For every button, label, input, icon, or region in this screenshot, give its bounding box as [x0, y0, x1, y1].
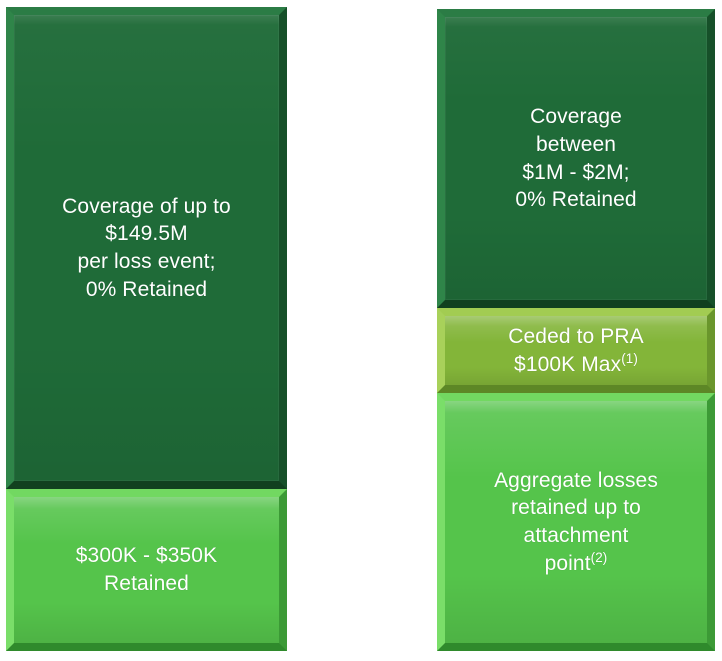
- right-ceded-footnote-marker: (1): [621, 351, 638, 366]
- right-aggregate-label: Aggregate losses retained up to attachme…: [488, 467, 664, 578]
- right-ceded-block[interactable]: Ceded to PRA $100K Max(1): [437, 308, 715, 393]
- left-coverage-line-4: 0% Retained: [86, 278, 207, 301]
- left-coverage-block[interactable]: Coverage of up to $149.5M per loss event…: [6, 7, 287, 489]
- left-coverage-line-1: Coverage of up to: [62, 195, 231, 218]
- right-coverage-block[interactable]: Coverage between $1M - $2M; 0% Retained: [437, 9, 715, 308]
- right-ceded-label: Ceded to PRA $100K Max(1): [502, 323, 649, 378]
- left-coverage-label: Coverage of up to $149.5M per loss event…: [56, 193, 237, 304]
- right-aggregate-block[interactable]: Aggregate losses retained up to attachme…: [437, 393, 715, 651]
- left-retained-label: $300K - $350K Retained: [70, 542, 223, 597]
- right-aggregate-line-3: attachment: [524, 524, 629, 547]
- right-ceded-line-2: $100K Max: [514, 353, 621, 376]
- right-coverage-line-1: Coverage: [530, 105, 622, 128]
- right-aggregate-footnote-marker: (2): [591, 550, 608, 565]
- right-ceded-line-1: Ceded to PRA: [508, 325, 643, 348]
- right-coverage-label: Coverage between $1M - $2M; 0% Retained: [509, 103, 642, 214]
- left-coverage-line-2: $149.5M: [105, 222, 187, 245]
- right-aggregate-line-2: retained up to: [511, 496, 641, 519]
- right-coverage-line-4: 0% Retained: [515, 188, 636, 211]
- right-coverage-line-2: between: [536, 133, 616, 156]
- left-retained-line-2: Retained: [104, 572, 189, 595]
- right-aggregate-line-1: Aggregate losses: [494, 469, 658, 492]
- coverage-retention-diagram: Coverage of up to $149.5M per loss event…: [0, 0, 722, 661]
- left-retained-block[interactable]: $300K - $350K Retained: [6, 489, 287, 651]
- left-coverage-line-3: per loss event;: [77, 250, 215, 273]
- right-aggregate-line-4: point: [545, 552, 591, 575]
- right-coverage-line-3: $1M - $2M;: [522, 161, 629, 184]
- left-retained-line-1: $300K - $350K: [76, 544, 217, 567]
